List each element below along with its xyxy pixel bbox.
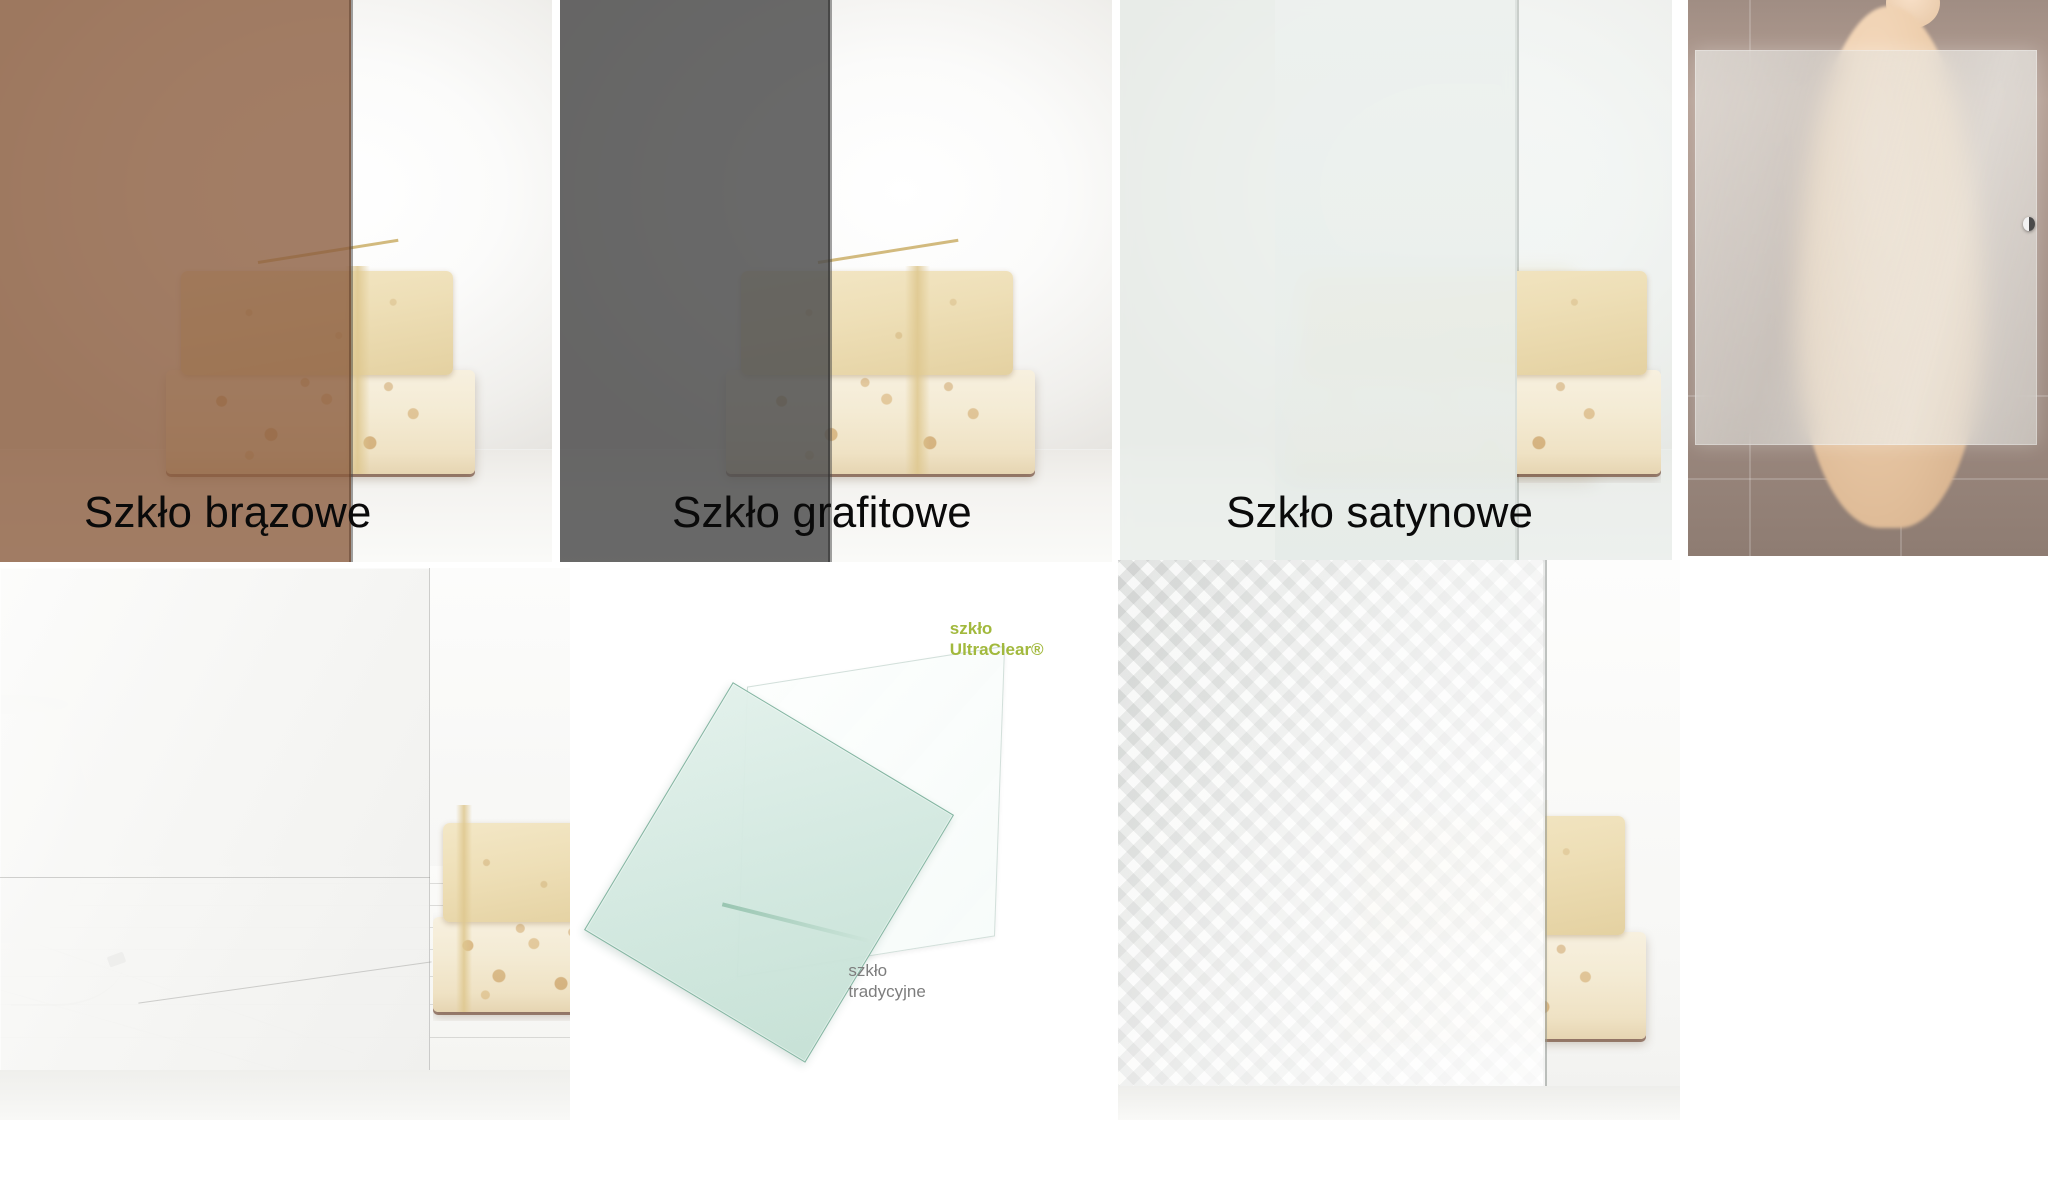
glass-edge: [830, 0, 832, 562]
panel-szklo-brazowe[interactable]: Szkło brązowe: [0, 0, 552, 562]
glass-edge: [351, 0, 353, 562]
ultraclear-scene: szkło UltraClear® szkło tradycyjne: [576, 568, 1110, 1120]
soap-bar-bottom: [1517, 370, 1661, 474]
mirror-scene: [0, 568, 570, 1120]
mastersoft-scene: [1118, 560, 1680, 1120]
ultraclear-annotation: szkło UltraClear®: [950, 618, 1044, 661]
soap-twine-vertical: [456, 805, 472, 1012]
soap-scene-satin: [1120, 0, 1672, 562]
panel-caption-brazowe: Szkło brązowe: [84, 491, 371, 535]
panel-caption-satynowe: Szkło satynowe: [1226, 491, 1533, 535]
soap-stack-clear-side: [1517, 247, 1661, 483]
mirror-glass-pane: [0, 568, 430, 1076]
glass-types-gallery: Szkło brązowe Szkło grafitowe: [0, 0, 2048, 1204]
soap-scene-brown: [0, 0, 552, 562]
soap-bar-top: [1517, 271, 1646, 375]
mirror-reflection-seam: [0, 877, 430, 878]
soap-bar-bottom: [433, 917, 570, 1012]
scene-shelf: [1118, 1086, 1680, 1120]
panel-szklo-intimato[interactable]: Szkło intimato: [1688, 0, 2048, 556]
panel-caption-grafitowe: Szkło grafitowe: [672, 491, 972, 535]
intimato-frosted-pane: [1695, 50, 2037, 445]
soap-stack-beside-mirror: [433, 805, 570, 1020]
soap-twine-vertical: [905, 266, 930, 474]
brown-glass-overlay: [0, 0, 351, 562]
mastersoft-highlight-gradient: [1118, 560, 1545, 1098]
panel-szklo-mastersoft[interactable]: Szkło MasterSoft: [1118, 560, 1680, 1120]
panel-szklo-satynowe[interactable]: Szkło satynowe: [1120, 0, 1672, 562]
shower-scene-intimato: [1688, 0, 2048, 556]
soap-scene-graphite: [560, 0, 1112, 562]
mirror-bottom-shadow: [0, 1070, 570, 1120]
mastersoft-pane-edge: [1545, 560, 1547, 1098]
graphite-glass-overlay: [560, 0, 830, 562]
traditional-glass-annotation: szkło tradycyjne: [848, 960, 925, 1003]
panel-szklo-ultraclear[interactable]: szkło UltraClear® szkło tradycyjne Szkło…: [576, 568, 1110, 1120]
panel-szklo-grafitowe[interactable]: Szkło grafitowe: [560, 0, 1112, 562]
panel-szklo-mirror[interactable]: Szkło mirror (lustrzane): [0, 568, 570, 1120]
